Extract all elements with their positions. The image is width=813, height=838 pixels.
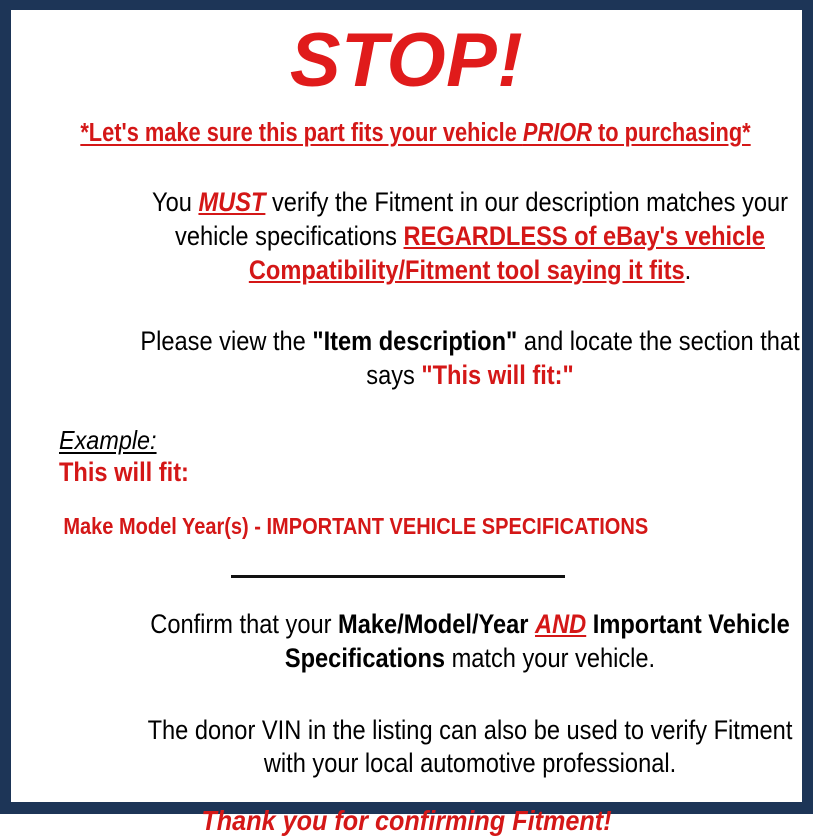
subtitle-text-after: to purchasing* — [592, 119, 751, 147]
must-verify-paragraph: You MUST verify the Fitment in our descr… — [81, 148, 813, 288]
stop-headline: STOP! — [25, 10, 788, 100]
notice-content: STOP! *Let's make sure this part fits yo… — [11, 10, 802, 802]
example-label: Example: — [59, 426, 157, 455]
confirm-line1-before: Confirm that your — [150, 609, 338, 639]
must-emphasis: MUST — [198, 187, 265, 217]
itemdesc-line2-before: says — [366, 360, 421, 390]
must-line1-before: You — [152, 187, 198, 217]
compatibility-emphasis: Compatibility/Fitment tool saying it fit… — [249, 255, 685, 285]
specifications-bold: Specifications — [285, 643, 445, 673]
divider-wrapper — [25, 539, 788, 583]
example-block: Example: This will fit: Make Model Year(… — [25, 393, 788, 539]
fitment-notice-card: STOP! *Let's make sure this part fits yo… — [0, 0, 813, 814]
section-divider — [231, 575, 565, 578]
and-emphasis: AND — [535, 609, 586, 639]
make-model-year-bold: Make/Model/Year — [338, 609, 528, 639]
fitment-subtitle: *Let's make sure this part fits your veh… — [80, 100, 732, 148]
important-vehicle-bold: Important Vehicle — [593, 609, 790, 639]
confirm-line2-after: match your vehicle. — [445, 643, 655, 673]
item-description-bold: "Item description" — [312, 326, 517, 356]
subtitle-text-before: *Let's make sure this part fits your veh… — [80, 119, 523, 147]
thank-you-line: Thank you for confirming Fitment! — [63, 781, 750, 837]
example-fit-heading: This will fit: — [59, 454, 697, 487]
must-line1-after: verify the Fitment in our description ma… — [265, 187, 788, 217]
must-line2-before: vehicle specifications — [175, 221, 403, 251]
confirm-paragraph: Confirm that your Make/Model/Year AND Im… — [81, 583, 813, 676]
regardless-emphasis: REGARDLESS of eBay's vehicle — [404, 221, 765, 251]
this-will-fit-quote: "This will fit:" — [421, 360, 573, 390]
example-spec-line: Make Model Year(s) - IMPORTANT VEHICLE S… — [59, 488, 693, 539]
vin-paragraph: The donor VIN in the listing can also be… — [81, 676, 813, 782]
item-description-paragraph: Please view the "Item description" and l… — [81, 288, 813, 393]
must-line3-period: . — [685, 255, 692, 285]
subtitle-emphasis-prior: PRIOR — [523, 119, 592, 147]
itemdesc-line1-before: Please view the — [140, 326, 312, 356]
vin-line1: The donor VIN in the listing can also be… — [148, 715, 793, 745]
itemdesc-line1-after: and locate the section that — [517, 326, 799, 356]
vin-line2: with your local automotive professional. — [264, 748, 676, 778]
